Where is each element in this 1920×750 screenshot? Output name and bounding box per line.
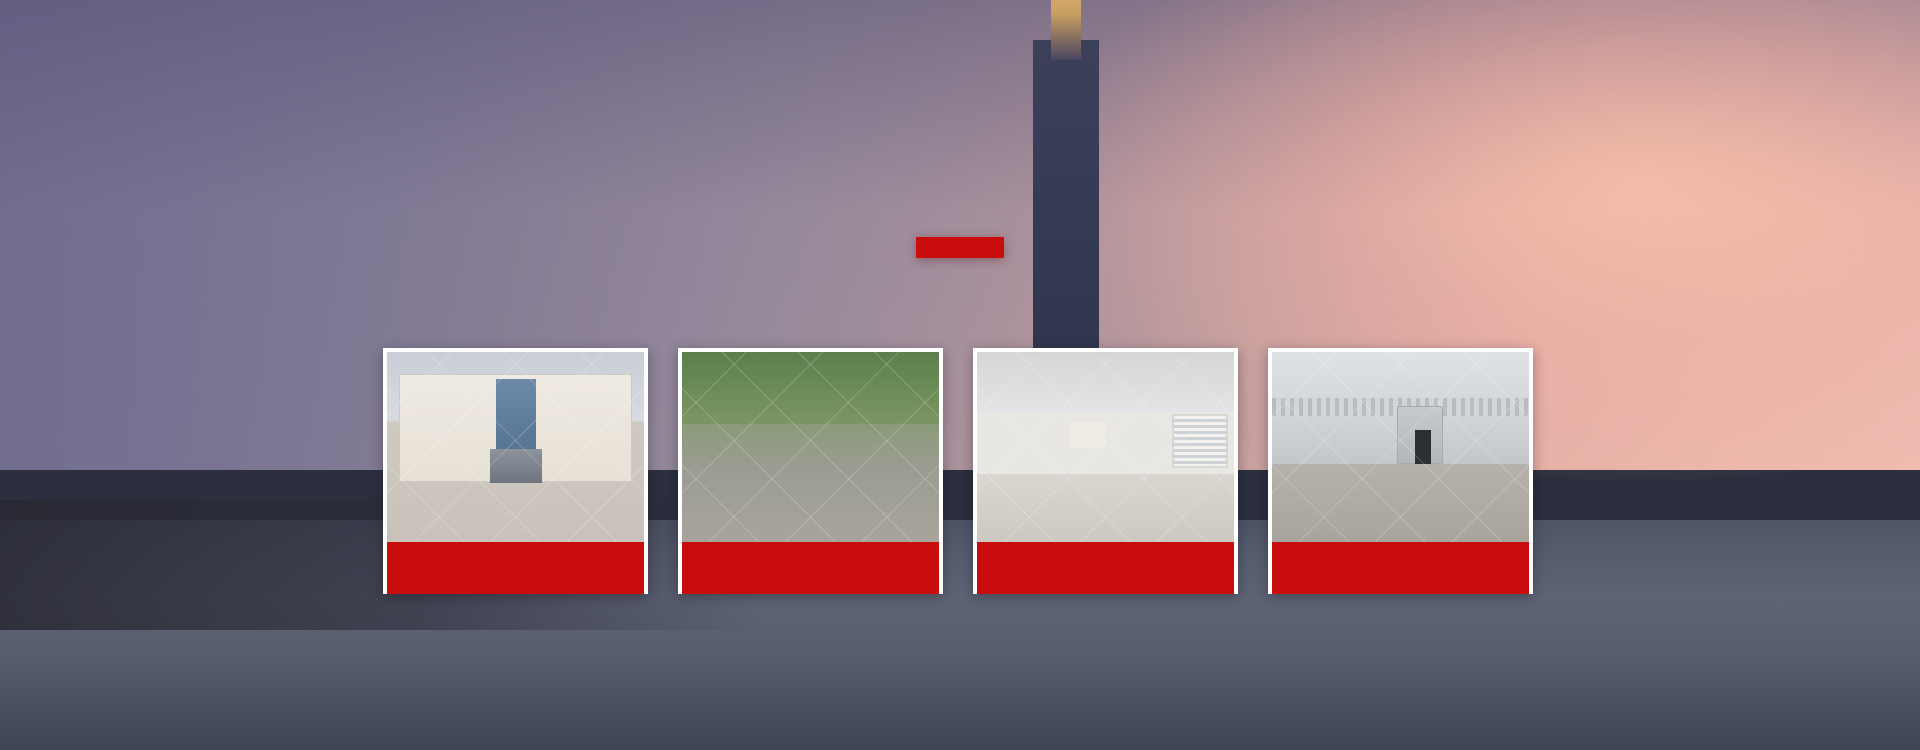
subtitle-banner xyxy=(916,237,1004,258)
office-window-blinds xyxy=(1172,414,1228,468)
card-photo-office-building xyxy=(387,352,644,542)
card-photo-factory-workers xyxy=(1272,352,1529,542)
card-photo-office-interior xyxy=(977,352,1234,542)
office-wall-art xyxy=(1069,422,1105,448)
hero-banner xyxy=(0,0,1920,750)
plant-surrounding-forest xyxy=(682,352,939,424)
factory-personnel-door xyxy=(1415,430,1431,464)
feature-card[interactable] xyxy=(383,348,648,594)
card-label xyxy=(682,542,939,594)
feature-card[interactable] xyxy=(1268,348,1533,594)
building-facade xyxy=(399,374,632,482)
building-entrance xyxy=(490,449,542,483)
feature-card[interactable] xyxy=(973,348,1238,594)
card-label xyxy=(1272,542,1529,594)
zifeng-tower-crown xyxy=(1051,0,1081,60)
card-label xyxy=(387,542,644,594)
card-photo-industrial-plant xyxy=(682,352,939,542)
feature-card-list xyxy=(383,348,1533,594)
card-label xyxy=(977,542,1234,594)
feature-card[interactable] xyxy=(678,348,943,594)
factory-wall xyxy=(1272,352,1529,464)
office-ceiling xyxy=(977,352,1234,414)
